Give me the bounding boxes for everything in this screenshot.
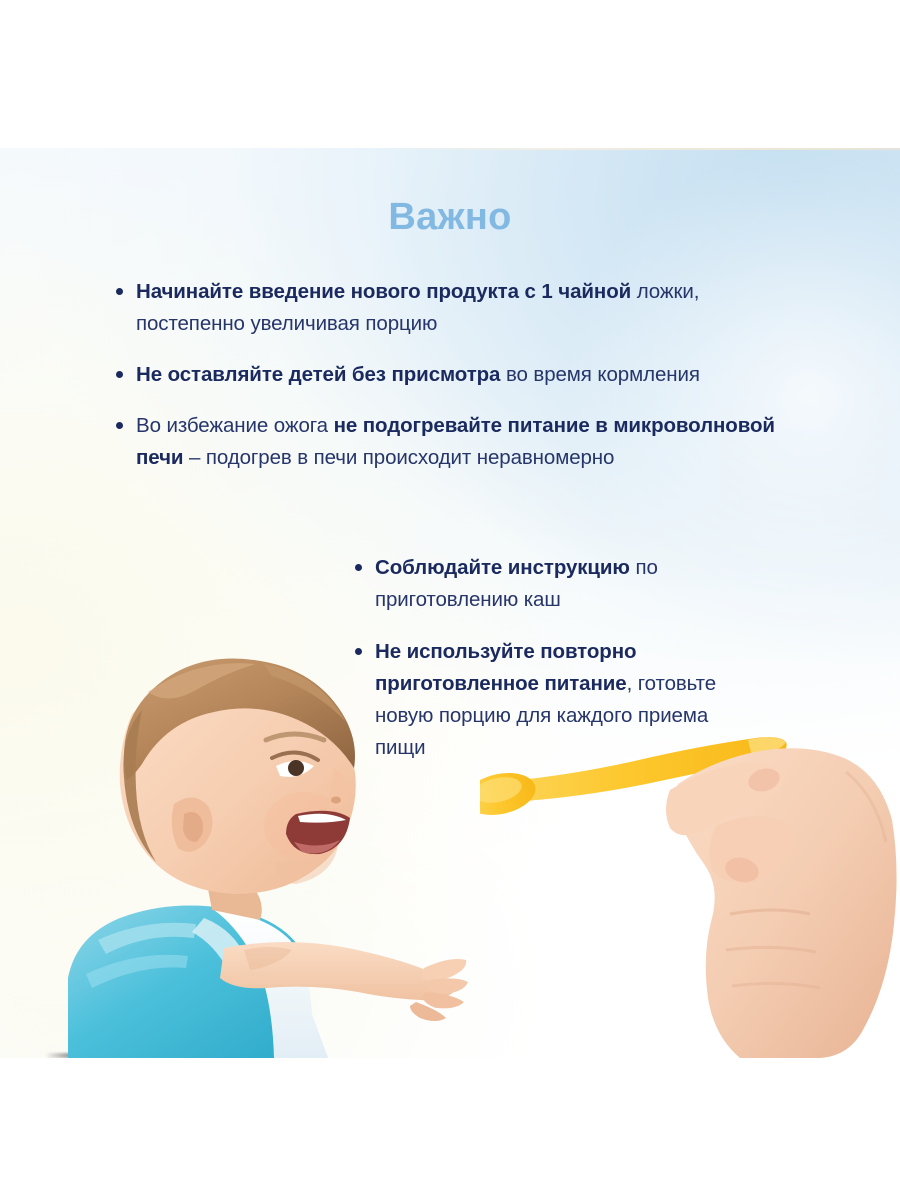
bullet-text: Соблюдайте инструкцию по приготовлению к… (375, 552, 761, 616)
feeder-hand-photo (480, 718, 900, 1058)
bullet-dot-icon (355, 648, 362, 655)
bullet-text: Начинайте введение нового продукта с 1 ч… (136, 276, 802, 340)
bullet-regular-part: во время кормления (500, 363, 699, 386)
bullet-bold-part: Не оставляйте детей без присмотра (136, 363, 500, 386)
bullet-regular-part: – подогрев в печи происходит неравномерн… (183, 446, 614, 469)
bullet-text: Во избежание ожога не подогревайте питан… (136, 410, 802, 474)
bullet-dot-icon (355, 564, 362, 571)
page-title: Важно (0, 196, 900, 239)
bullet-bold-part: Не используйте повторно приготовленное п… (375, 640, 636, 695)
bullet-text: Не используйте повторно приготовленное п… (375, 636, 761, 764)
panel-top-edge (390, 148, 900, 150)
bullet-item: Не оставляйте детей без присмотра во вре… (112, 359, 802, 391)
bullet-list-secondary: Соблюдайте инструкцию по приготовлению к… (351, 552, 761, 764)
bullet-dot-icon (116, 422, 123, 429)
bullet-list-main: Начинайте введение нового продукта с 1 ч… (112, 276, 802, 474)
bullet-item: Во избежание ожога не подогревайте питан… (112, 410, 802, 474)
bullet-text: Не оставляйте детей без присмотра во вре… (136, 359, 802, 391)
bullet-bold-part: Начинайте введение нового продукта с 1 ч… (136, 280, 637, 303)
bullet-regular-part: Во избежание ожога (136, 414, 334, 437)
bullet-item: Соблюдайте инструкцию по приготовлению к… (351, 552, 761, 616)
promo-slide: Важно Начинайте введение нового продукта… (0, 0, 900, 1200)
bullet-dot-icon (116, 371, 123, 378)
bullet-item: Не используйте повторно приготовленное п… (351, 636, 761, 764)
bullet-bold-part: Соблюдайте инструкцию (375, 556, 630, 579)
baby-eye (288, 760, 304, 776)
bullet-dot-icon (116, 288, 123, 295)
bullet-item: Начинайте введение нового продукта с 1 ч… (112, 276, 802, 340)
